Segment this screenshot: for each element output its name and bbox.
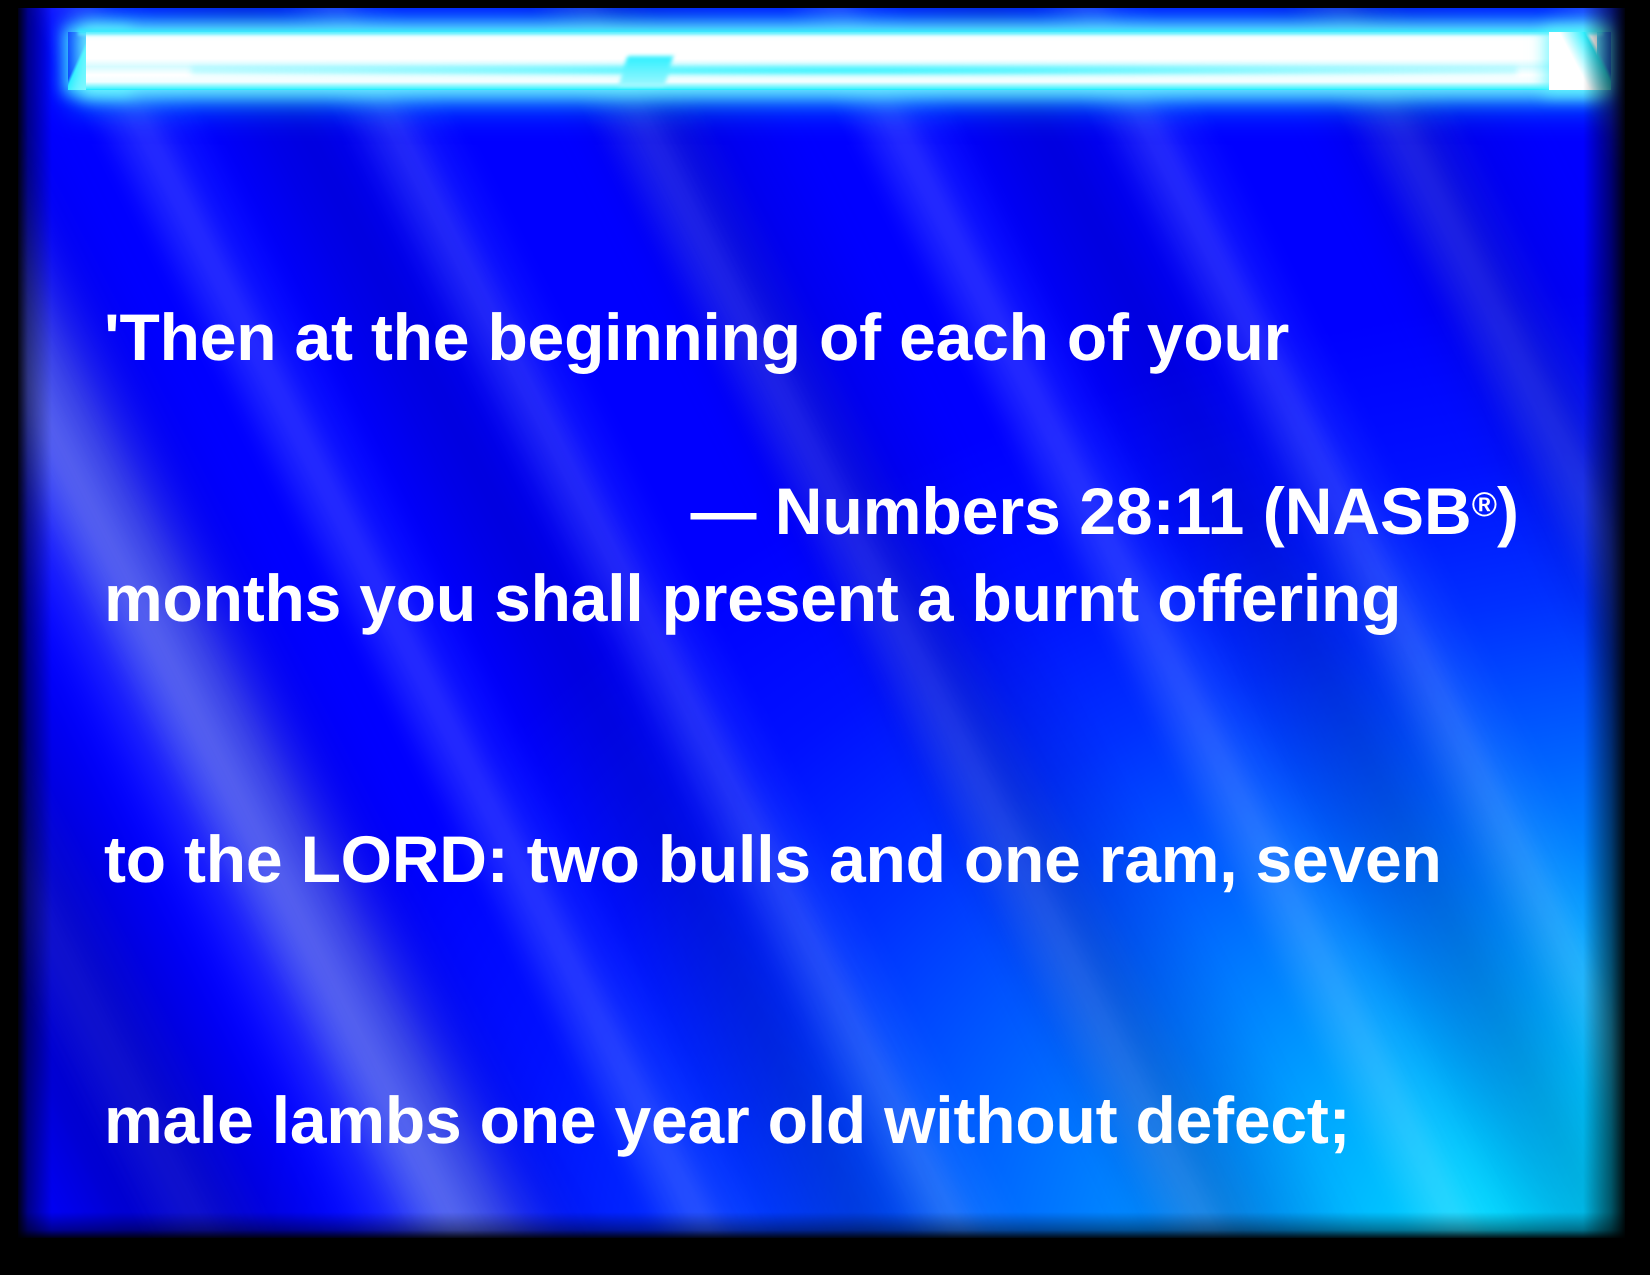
verse-line-3: to the LORD: two bulls and one ram, seve… <box>104 816 1519 903</box>
verse-line-2: months you shall present a burnt offerin… <box>104 555 1519 642</box>
header-glow-bar <box>68 22 1609 94</box>
verse-line-4: male lambs one year old without defect; <box>104 1077 1519 1164</box>
registered-trademark-icon: ® <box>1472 486 1497 524</box>
verse-line-1: 'Then at the beginning of each of your <box>104 294 1519 381</box>
attribution-closing-paren: ) <box>1497 474 1519 548</box>
glow-bar-notch <box>618 56 673 86</box>
verse-text: 'Then at the beginning of each of your m… <box>104 120 1519 1238</box>
glow-bar-cyan-streak <box>191 66 1516 75</box>
attribution-reference: Numbers 28:11 (NASB <box>756 474 1471 548</box>
slide-panel: 'Then at the beginning of each of your m… <box>18 8 1625 1238</box>
glow-bar-core <box>86 32 1597 90</box>
verse-attribution: — Numbers 28:11 (NASB®) <box>104 468 1519 555</box>
glow-bar-top-edge <box>78 28 1603 35</box>
bible-verse-slide: 'Then at the beginning of each of your m… <box>0 0 1650 1275</box>
glow-bar-right-wedge <box>1549 32 1611 90</box>
attribution-em-dash: — <box>690 474 756 548</box>
